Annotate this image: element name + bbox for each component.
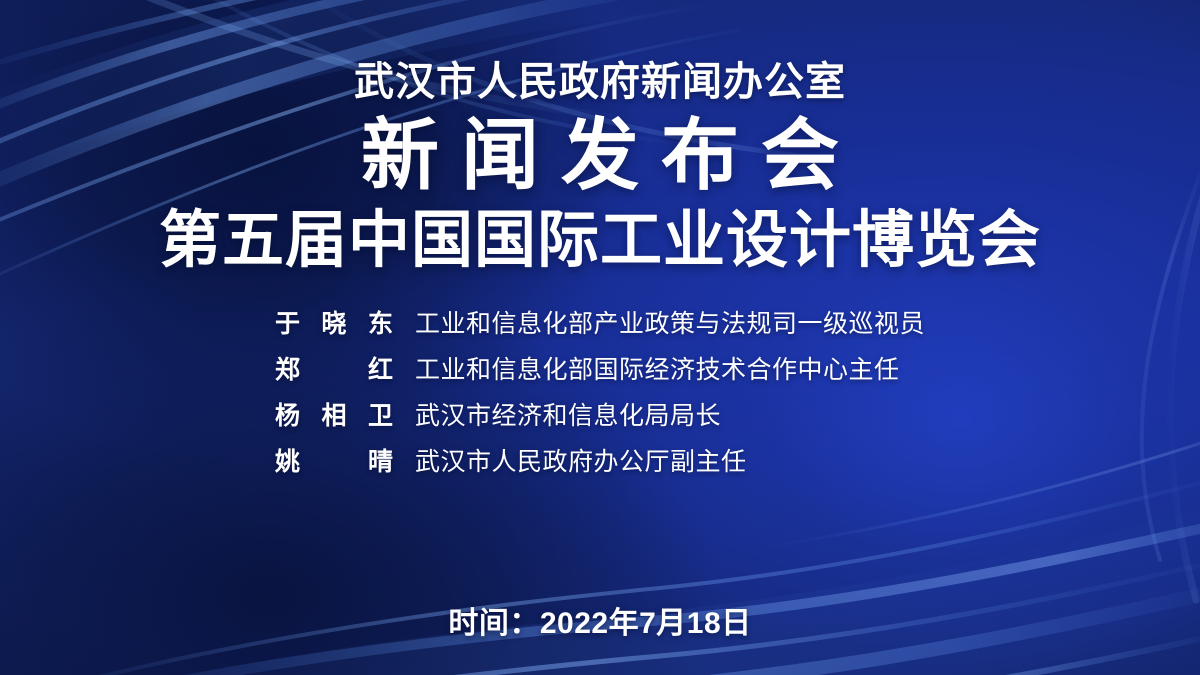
event-subtitle: 第五届中国国际工业设计博览会 <box>159 208 1041 273</box>
speaker-name: 郑红 <box>275 355 393 385</box>
organizer-label: 武汉市人民政府新闻办公室 <box>354 62 846 102</box>
list-item: 姚晴 武汉市人民政府办公厅副主任 <box>275 447 925 477</box>
speaker-title: 工业和信息化部产业政策与法规司一级巡视员 <box>415 309 925 339</box>
speaker-title: 武汉市经济和信息化局局长 <box>415 401 721 431</box>
speaker-name: 于晓东 <box>275 309 393 339</box>
list-item: 杨相卫 武汉市经济和信息化局局长 <box>275 401 925 431</box>
page-title: 新闻发布会 <box>339 116 861 196</box>
news-conference-poster: 武汉市人民政府新闻办公室 新闻发布会 第五届中国国际工业设计博览会 于晓东 工业… <box>0 0 1200 675</box>
speaker-list: 于晓东 工业和信息化部产业政策与法规司一级巡视员 郑红 工业和信息化部国际经济技… <box>275 309 925 477</box>
speaker-title: 武汉市人民政府办公厅副主任 <box>415 447 747 477</box>
event-datetime: 时间：2022年7月18日 <box>0 598 1200 642</box>
speaker-title: 工业和信息化部国际经济技术合作中心主任 <box>415 355 900 385</box>
list-item: 郑红 工业和信息化部国际经济技术合作中心主任 <box>275 355 925 385</box>
list-item: 于晓东 工业和信息化部产业政策与法规司一级巡视员 <box>275 309 925 339</box>
speaker-name: 姚晴 <box>275 447 393 477</box>
poster-content: 武汉市人民政府新闻办公室 新闻发布会 第五届中国国际工业设计博览会 于晓东 工业… <box>0 0 1200 675</box>
speaker-name: 杨相卫 <box>275 401 393 431</box>
